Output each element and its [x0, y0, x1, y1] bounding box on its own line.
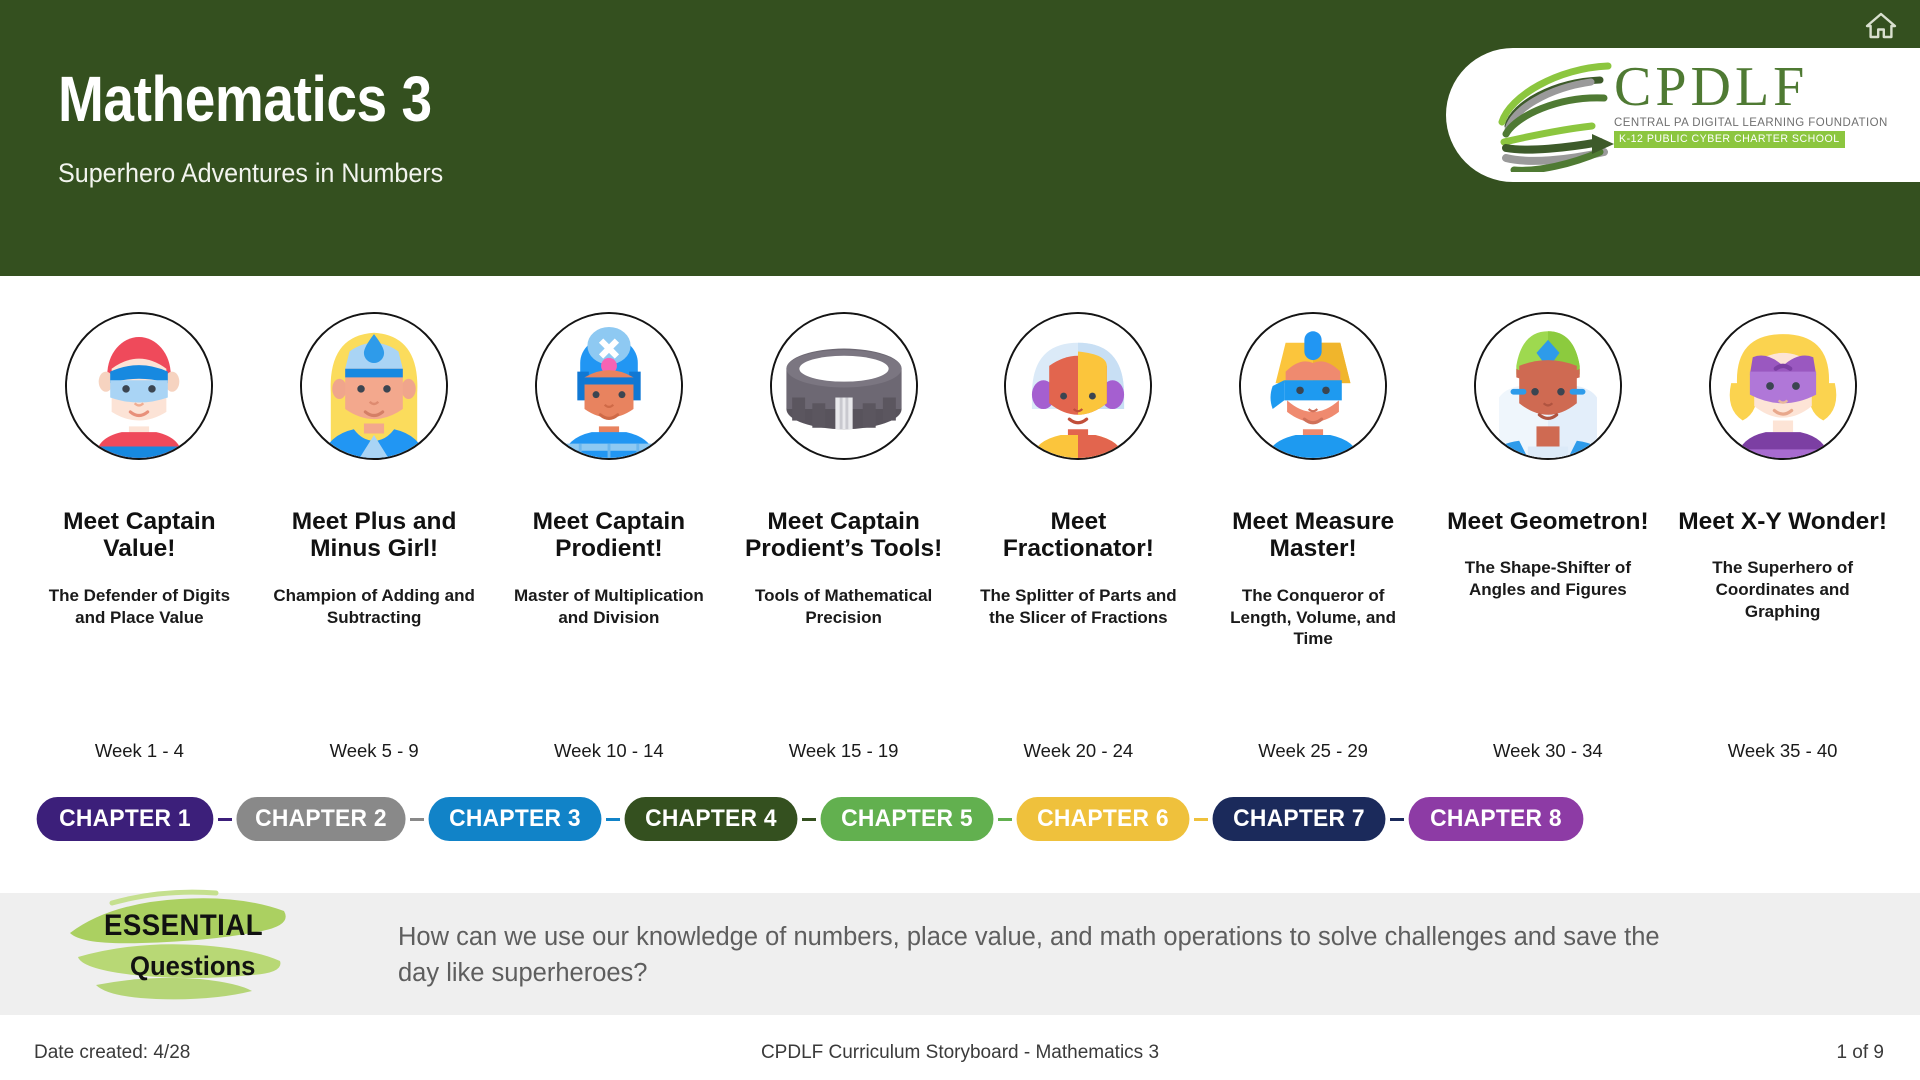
week-range: Week 1 - 4	[22, 740, 257, 762]
chapter-connector	[1390, 818, 1404, 821]
chapter-item-8[interactable]: CHAPTER 8	[1390, 797, 1588, 841]
character-description: The Conqueror of Length, Volume, and Tim…	[1211, 585, 1416, 650]
week-range: Week 20 - 24	[961, 740, 1196, 762]
chapter-connector	[410, 818, 424, 821]
chapter-pill[interactable]: CHAPTER 8	[1409, 797, 1584, 841]
chapter-item-7[interactable]: CHAPTER 7	[1194, 797, 1390, 841]
xy-wonder-avatar	[1709, 312, 1857, 460]
week-range: Week 15 - 19	[726, 740, 961, 762]
character-card[interactable]: Meet Captain Prodient’s Tools! Tools of …	[726, 312, 961, 650]
character-row: Meet Captain Value! The Defender of Digi…	[22, 312, 1900, 650]
footer-page-number: 1 of 9	[1836, 1042, 1884, 1064]
header-bar: Mathematics 3 Superhero Adventures in Nu…	[0, 0, 1920, 276]
chapter-pill[interactable]: CHAPTER 3	[429, 797, 602, 841]
fractionator-avatar	[1004, 312, 1152, 460]
week-range: Week 10 - 14	[492, 740, 727, 762]
chapter-pill[interactable]: CHAPTER 7	[1213, 797, 1386, 841]
logo-banner: K-12 PUBLIC CYBER CHARTER SCHOOL	[1614, 131, 1845, 148]
chapter-item-3[interactable]: CHAPTER 3	[410, 797, 606, 841]
week-range: Week 25 - 29	[1196, 740, 1431, 762]
character-description: The Shape-Shifter of Angles and Figures	[1445, 557, 1650, 601]
chapter-connector	[998, 818, 1012, 821]
questions-label: Questions	[130, 951, 255, 982]
week-range-row: Week 1 - 4 Week 5 - 9 Week 10 - 14 Week …	[22, 740, 1900, 762]
character-name: Meet Plus and Minus Girl!	[269, 508, 479, 563]
character-description: The Splitter of Parts and the Slicer of …	[976, 585, 1181, 629]
captain-prodient-avatar	[535, 312, 683, 460]
footer-title: CPDLF Curriculum Storyboard - Mathematic…	[0, 1042, 1920, 1064]
chapter-item-5[interactable]: CHAPTER 5	[802, 797, 998, 841]
chapter-item-4[interactable]: CHAPTER 4	[606, 797, 802, 841]
character-description: Master of Multiplication and Division	[506, 585, 711, 629]
character-card[interactable]: Meet Plus and Minus Girl! Champion of Ad…	[257, 312, 492, 650]
utility-belt-avatar	[770, 312, 918, 460]
captain-value-avatar	[65, 312, 213, 460]
character-card[interactable]: Meet Fractionator! The Splitter of Parts…	[961, 312, 1196, 650]
character-name: Meet Measure Master!	[1208, 508, 1418, 563]
chapter-item-1[interactable]: CHAPTER 1	[32, 797, 218, 841]
essential-question-text: How can we use our knowledge of numbers,…	[398, 920, 1688, 991]
chapter-pill[interactable]: CHAPTER 5	[821, 797, 994, 841]
chapter-connector	[1194, 818, 1208, 821]
chapter-progress-bar: CHAPTER 1CHAPTER 2CHAPTER 3CHAPTER 4CHAP…	[32, 795, 1888, 843]
essential-questions-band: ESSENTIAL Questions How can we use our k…	[0, 893, 1920, 1015]
character-description: The Superhero of Coordinates and Graphin…	[1680, 557, 1885, 622]
chapter-pill[interactable]: CHAPTER 1	[37, 797, 214, 841]
measure-master-avatar	[1239, 312, 1387, 460]
logo-name: CPDLF	[1614, 60, 1914, 115]
character-description: Champion of Adding and Subtracting	[272, 585, 477, 629]
footer: Date created: 4/28 CPDLF Curriculum Stor…	[0, 1036, 1920, 1080]
slide-root: Mathematics 3 Superhero Adventures in Nu…	[0, 0, 1920, 1080]
character-name: Meet Captain Prodient’s Tools!	[739, 508, 949, 563]
character-description: Tools of Mathematical Precision	[741, 585, 946, 629]
chapter-item-2[interactable]: CHAPTER 2	[218, 797, 410, 841]
week-range: Week 5 - 9	[257, 740, 492, 762]
page-subtitle: Superhero Adventures in Numbers	[58, 158, 443, 189]
character-name: Meet X-Y Wonder!	[1678, 508, 1888, 535]
chapter-pill[interactable]: CHAPTER 6	[1017, 797, 1190, 841]
character-name: Meet Captain Value!	[34, 508, 244, 563]
chapter-connector	[218, 818, 232, 821]
cpdlf-logo: CPDLF CENTRAL PA DIGITAL LEARNING FOUNDA…	[1446, 48, 1920, 182]
chapter-connector	[606, 818, 620, 821]
character-card[interactable]: Meet Geometron! The Shape-Shifter of Ang…	[1431, 312, 1666, 650]
essential-label: ESSENTIAL	[104, 909, 263, 943]
character-name: Meet Geometron!	[1443, 508, 1653, 535]
home-icon[interactable]	[1864, 10, 1898, 40]
brush-stroke-icon	[52, 885, 307, 1010]
logo-tagline: CENTRAL PA DIGITAL LEARNING FOUNDATION	[1614, 116, 1911, 129]
chapter-item-6[interactable]: CHAPTER 6	[998, 797, 1194, 841]
chapter-pill[interactable]: CHAPTER 2	[236, 797, 405, 841]
week-range: Week 35 - 40	[1665, 740, 1900, 762]
chapter-pill[interactable]: CHAPTER 4	[625, 797, 798, 841]
character-card[interactable]: Meet X-Y Wonder! The Superhero of Coordi…	[1665, 312, 1900, 650]
character-description: The Defender of Digits and Place Value	[37, 585, 242, 629]
page-title: Mathematics 3	[58, 62, 432, 136]
character-card[interactable]: Meet Captain Prodient! Master of Multipl…	[492, 312, 727, 650]
geometron-avatar	[1474, 312, 1622, 460]
plus-and-minus-girl-avatar	[300, 312, 448, 460]
essential-questions-badge: ESSENTIAL Questions	[52, 885, 307, 1010]
character-name: Meet Captain Prodient!	[504, 508, 714, 563]
character-card[interactable]: Meet Measure Master! The Conqueror of Le…	[1196, 312, 1431, 650]
chapter-connector	[802, 818, 816, 821]
character-card[interactable]: Meet Captain Value! The Defender of Digi…	[22, 312, 257, 650]
week-range: Week 30 - 34	[1431, 740, 1666, 762]
character-name: Meet Fractionator!	[973, 508, 1183, 563]
